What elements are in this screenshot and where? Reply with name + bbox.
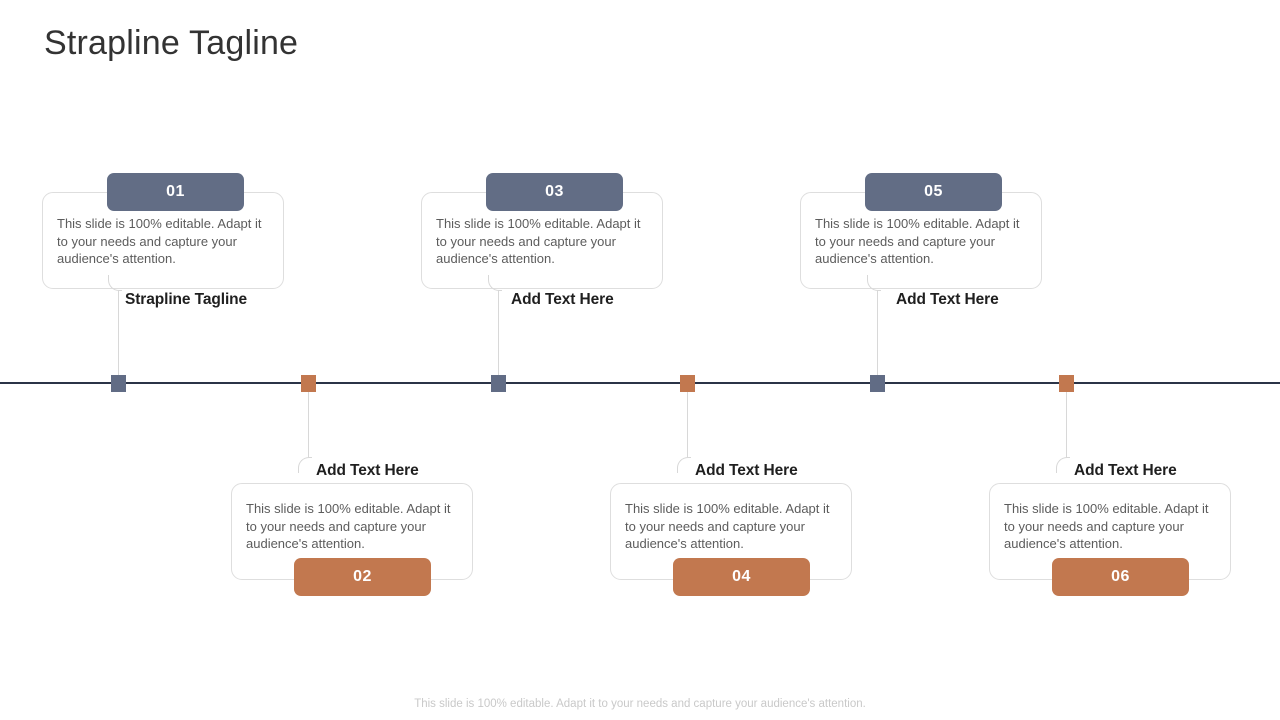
step-badge-01[interactable]: 01 (107, 173, 244, 211)
connector-elbow-06 (1056, 457, 1070, 473)
footer-note: This slide is 100% editable. Adapt it to… (0, 698, 1280, 710)
page-title: Strapline Tagline (44, 24, 298, 63)
step-badge-02[interactable]: 02 (294, 558, 431, 596)
timeline-marker-03[interactable] (491, 375, 506, 392)
connector-elbow-04 (677, 457, 691, 473)
timeline-marker-01[interactable] (111, 375, 126, 392)
connector-line-02 (308, 392, 309, 458)
connector-line-04 (687, 392, 688, 458)
step-badge-03[interactable]: 03 (486, 173, 623, 211)
step-badge-06[interactable]: 06 (1052, 558, 1189, 596)
timeline-axis (0, 382, 1280, 384)
step-heading-01: Strapline Tagline (125, 291, 247, 309)
step-badge-04[interactable]: 04 (673, 558, 810, 596)
connector-elbow-02 (298, 457, 312, 473)
timeline-marker-04[interactable] (680, 375, 695, 392)
step-heading-04: Add Text Here (695, 462, 798, 480)
timeline-marker-05[interactable] (870, 375, 885, 392)
connector-elbow-03 (488, 275, 502, 291)
step-heading-02: Add Text Here (316, 462, 419, 480)
connector-line-05 (877, 290, 878, 376)
connector-line-06 (1066, 392, 1067, 458)
connector-line-03 (498, 290, 499, 376)
step-heading-03: Add Text Here (511, 291, 614, 309)
step-badge-05[interactable]: 05 (865, 173, 1002, 211)
timeline-marker-06[interactable] (1059, 375, 1074, 392)
connector-elbow-01 (108, 275, 122, 291)
step-heading-05: Add Text Here (896, 291, 999, 309)
slide-canvas: Strapline Tagline This slide is 100% edi… (0, 0, 1280, 720)
timeline-marker-02[interactable] (301, 375, 316, 392)
step-heading-06: Add Text Here (1074, 462, 1177, 480)
connector-line-01 (118, 290, 119, 376)
connector-elbow-05 (867, 275, 881, 291)
